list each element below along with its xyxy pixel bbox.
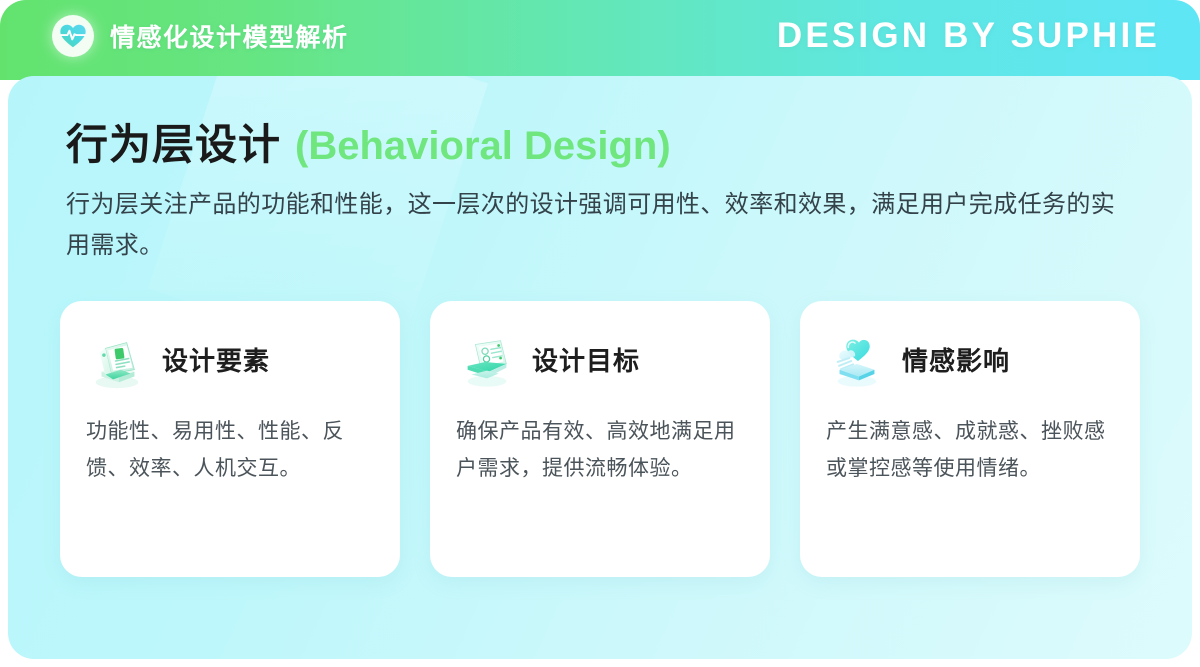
- section-description: 行为层关注产品的功能和性能，这一层次的设计强调可用性、效率和效果，满足用户完成任…: [66, 184, 1134, 267]
- card-body: 功能性、易用性、性能、反馈、效率、人机交互。: [86, 413, 374, 488]
- card-emotional-impact[interactable]: 情感影响 产生满意感、成就惑、挫败感或掌控感等使用情绪。: [800, 301, 1140, 577]
- card-title: 设计目标: [532, 341, 640, 378]
- content-panel: 行为层设计 (Behavioral Design) 行为层关注产品的功能和性能，…: [8, 76, 1192, 659]
- card-title: 情感影响: [902, 341, 1010, 378]
- card-header: 情感影响: [826, 329, 1114, 391]
- header-title: 情感化设计模型解析: [110, 18, 349, 54]
- brand-badge: [52, 15, 94, 57]
- card-list: 设计要素 功能性、易用性、性能、反馈、效率、人机交互。: [60, 301, 1140, 577]
- laptop-3d-icon: [456, 329, 518, 391]
- slide-root: 情感化设计模型解析 DESIGN BY SUPHIE 行为层设计 (Behavi…: [0, 0, 1200, 667]
- section-title: 行为层设计 (Behavioral Design): [66, 122, 1140, 168]
- card-body: 产生满意感、成就惑、挫败感或掌控感等使用情绪。: [826, 413, 1114, 488]
- section-title-en: (Behavioral Design): [295, 124, 671, 168]
- section-title-cn: 行为层设计: [66, 122, 281, 168]
- card-title: 设计要素: [162, 341, 270, 378]
- monitor-3d-icon: [86, 329, 148, 391]
- header-brand: 情感化设计模型解析: [52, 15, 349, 57]
- card-design-goals[interactable]: 设计目标 确保产品有效、高效地满足用户需求，提供流畅体验。: [430, 301, 770, 577]
- card-header: 设计目标: [456, 329, 744, 391]
- card-body: 确保产品有效、高效地满足用户需求，提供流畅体验。: [456, 413, 744, 488]
- heart-cloud-3d-icon: [826, 329, 888, 391]
- card-design-elements[interactable]: 设计要素 功能性、易用性、性能、反馈、效率、人机交互。: [60, 301, 400, 577]
- header-bar: 情感化设计模型解析 DESIGN BY SUPHIE: [0, 0, 1200, 80]
- heart-pulse-icon: [58, 21, 88, 51]
- design-credit: DESIGN BY SUPHIE: [777, 16, 1160, 56]
- card-header: 设计要素: [86, 329, 374, 391]
